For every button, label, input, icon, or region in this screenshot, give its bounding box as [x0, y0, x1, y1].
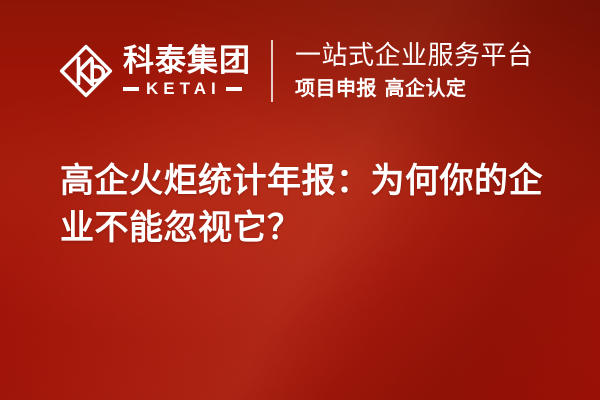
brand-header: 科泰集团 KETAI 一站式企业服务平台 项目申报 高企认定: [58, 40, 534, 102]
company-name-cn: 科泰集团: [123, 44, 251, 78]
company-name-en: KETAI: [139, 80, 226, 98]
logo-rule-left-icon: [123, 87, 139, 91]
brand-divider: [271, 40, 273, 102]
company-logo: 科泰集团 KETAI: [58, 43, 251, 99]
promo-banner: 科泰集团 KETAI 一站式企业服务平台 项目申报 高企认定 高企火炬统计年报：…: [0, 0, 600, 400]
logo-rule-right-icon: [226, 87, 242, 91]
tagline-main: 一站式企业服务平台: [295, 41, 534, 72]
tagline-block: 一站式企业服务平台 项目申报 高企认定: [295, 41, 534, 101]
tagline-sub: 项目申报 高企认定: [295, 75, 534, 101]
banner-content: 科泰集团 KETAI 一站式企业服务平台 项目申报 高企认定 高企火炬统计年报：…: [0, 0, 600, 400]
logo-wordmark: 科泰集团 KETAI: [123, 44, 251, 98]
company-name-en-row: KETAI: [123, 80, 251, 98]
page-title: 高企火炬统计年报：为何你的企业不能忽视它？: [60, 158, 560, 252]
ketai-diamond-kd-monogram-icon: [58, 43, 114, 99]
